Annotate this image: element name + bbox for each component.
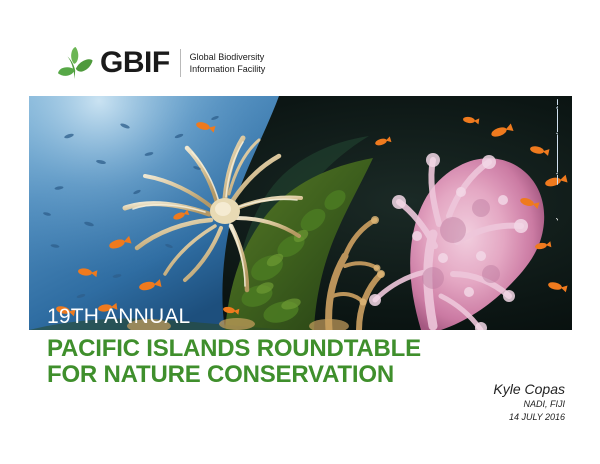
photo-credit: CC BY-NC-SA 2012 Harvey Cohen https://fl…: [556, 96, 570, 330]
presenter-name: Kyle Copas: [493, 381, 565, 398]
page-title-line2: FOR NATURE CONSERVATION: [47, 362, 421, 388]
leaf-sprout-icon: [57, 46, 93, 80]
gbif-tagline-line1: Global Biodiversity: [190, 51, 266, 64]
slide-eyebrow: 19TH ANNUAL: [47, 305, 190, 329]
presenter-block: Kyle Copas NADI, FIJI 14 JULY 2016: [493, 381, 565, 424]
photo-credit-license: CC BY-NC-SA 2012 Harvey Cohen: [556, 185, 558, 327]
photo-credit-link[interactable]: https://flic.kr/p/14LQT: [556, 99, 558, 185]
gbif-wordmark: GBIF: [100, 48, 170, 78]
presenter-date: 14 JULY 2016: [493, 411, 565, 424]
presentation-slide: GBIF Global Biodiversity Information Fac…: [0, 0, 600, 464]
presenter-location: NADI, FIJI: [493, 398, 565, 411]
gbif-logo: GBIF Global Biodiversity Information Fac…: [57, 41, 265, 85]
coral-reef-photograph: [29, 96, 572, 330]
page-title-line1: PACIFIC ISLANDS ROUNDTABLE: [47, 336, 421, 362]
gbif-tagline-line2: Information Facility: [190, 63, 266, 76]
logo-divider: [180, 49, 181, 77]
gbif-tagline: Global Biodiversity Information Facility: [190, 51, 266, 76]
photo-credit-text: CC BY-NC-SA 2012 Harvey Cohen https://fl…: [556, 99, 558, 327]
page-title: PACIFIC ISLANDS ROUNDTABLE FOR NATURE CO…: [47, 336, 421, 388]
